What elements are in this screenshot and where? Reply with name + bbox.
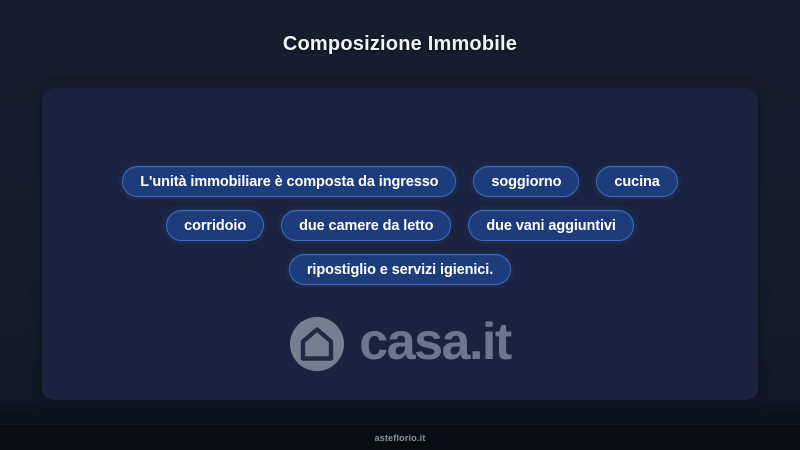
composition-card: L'unità immobiliare è composta da ingres…	[42, 88, 758, 400]
title-bar: Composizione Immobile	[0, 0, 800, 88]
chips-container: L'unità immobiliare è composta da ingres…	[42, 166, 758, 285]
chip-row: L'unità immobiliare è composta da ingres…	[122, 166, 678, 197]
chip-item[interactable]: cucina	[596, 166, 677, 197]
chip-row: ripostiglio e servizi igienici.	[289, 254, 511, 285]
home-icon	[289, 316, 345, 372]
chip-item[interactable]: soggiorno	[473, 166, 579, 197]
chip-row: corridoio due camere da letto due vani a…	[166, 210, 634, 241]
chip-item[interactable]: ripostiglio e servizi igienici.	[289, 254, 511, 285]
watermark-label: casa.it	[359, 316, 510, 368]
chip-item[interactable]: due camere da letto	[281, 210, 451, 241]
chip-item[interactable]: L'unità immobiliare è composta da ingres…	[122, 166, 456, 197]
footer-bar: asteflorio.it	[0, 424, 800, 450]
page-title: Composizione Immobile	[283, 33, 517, 56]
casa-it-watermark: casa.it	[42, 316, 758, 372]
page-background: Composizione Immobile L'unità immobiliar…	[0, 0, 800, 450]
chip-item[interactable]: due vani aggiuntivi	[468, 210, 633, 241]
chip-item[interactable]: corridoio	[166, 210, 264, 241]
footer-label: asteflorio.it	[374, 433, 425, 443]
